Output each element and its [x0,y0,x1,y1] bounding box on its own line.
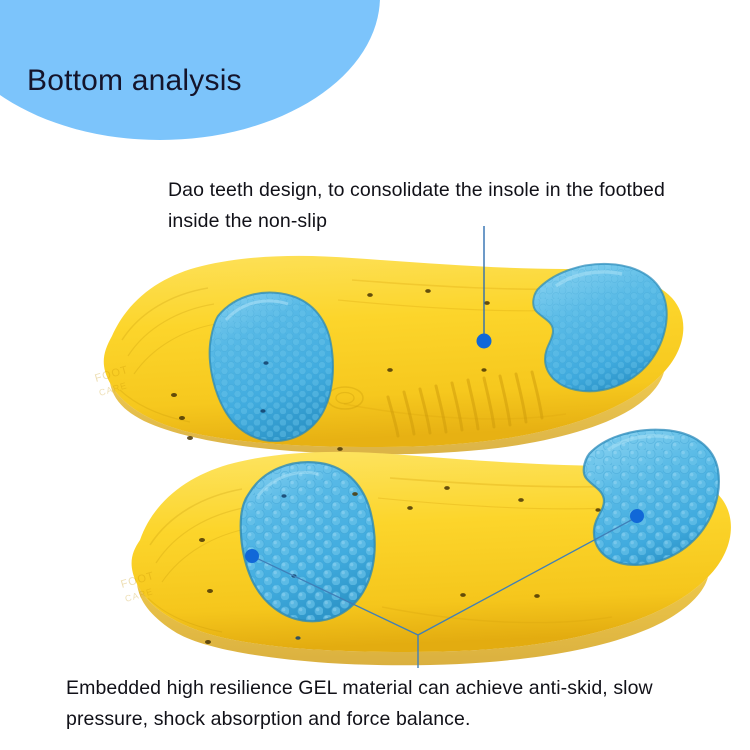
marker-dot-gel-forefoot [245,549,259,563]
insole-lower: FOOT CARE [120,420,735,665]
product-infographic: Bottom analysis Dao teeth design, to con… [0,0,750,750]
insole-illustration: FOOT CARE [0,0,750,750]
insole-upper: FOOT CARE [94,255,685,464]
marker-dot-dao-teeth [477,334,492,349]
marker-dot-gel-heel [630,509,644,523]
